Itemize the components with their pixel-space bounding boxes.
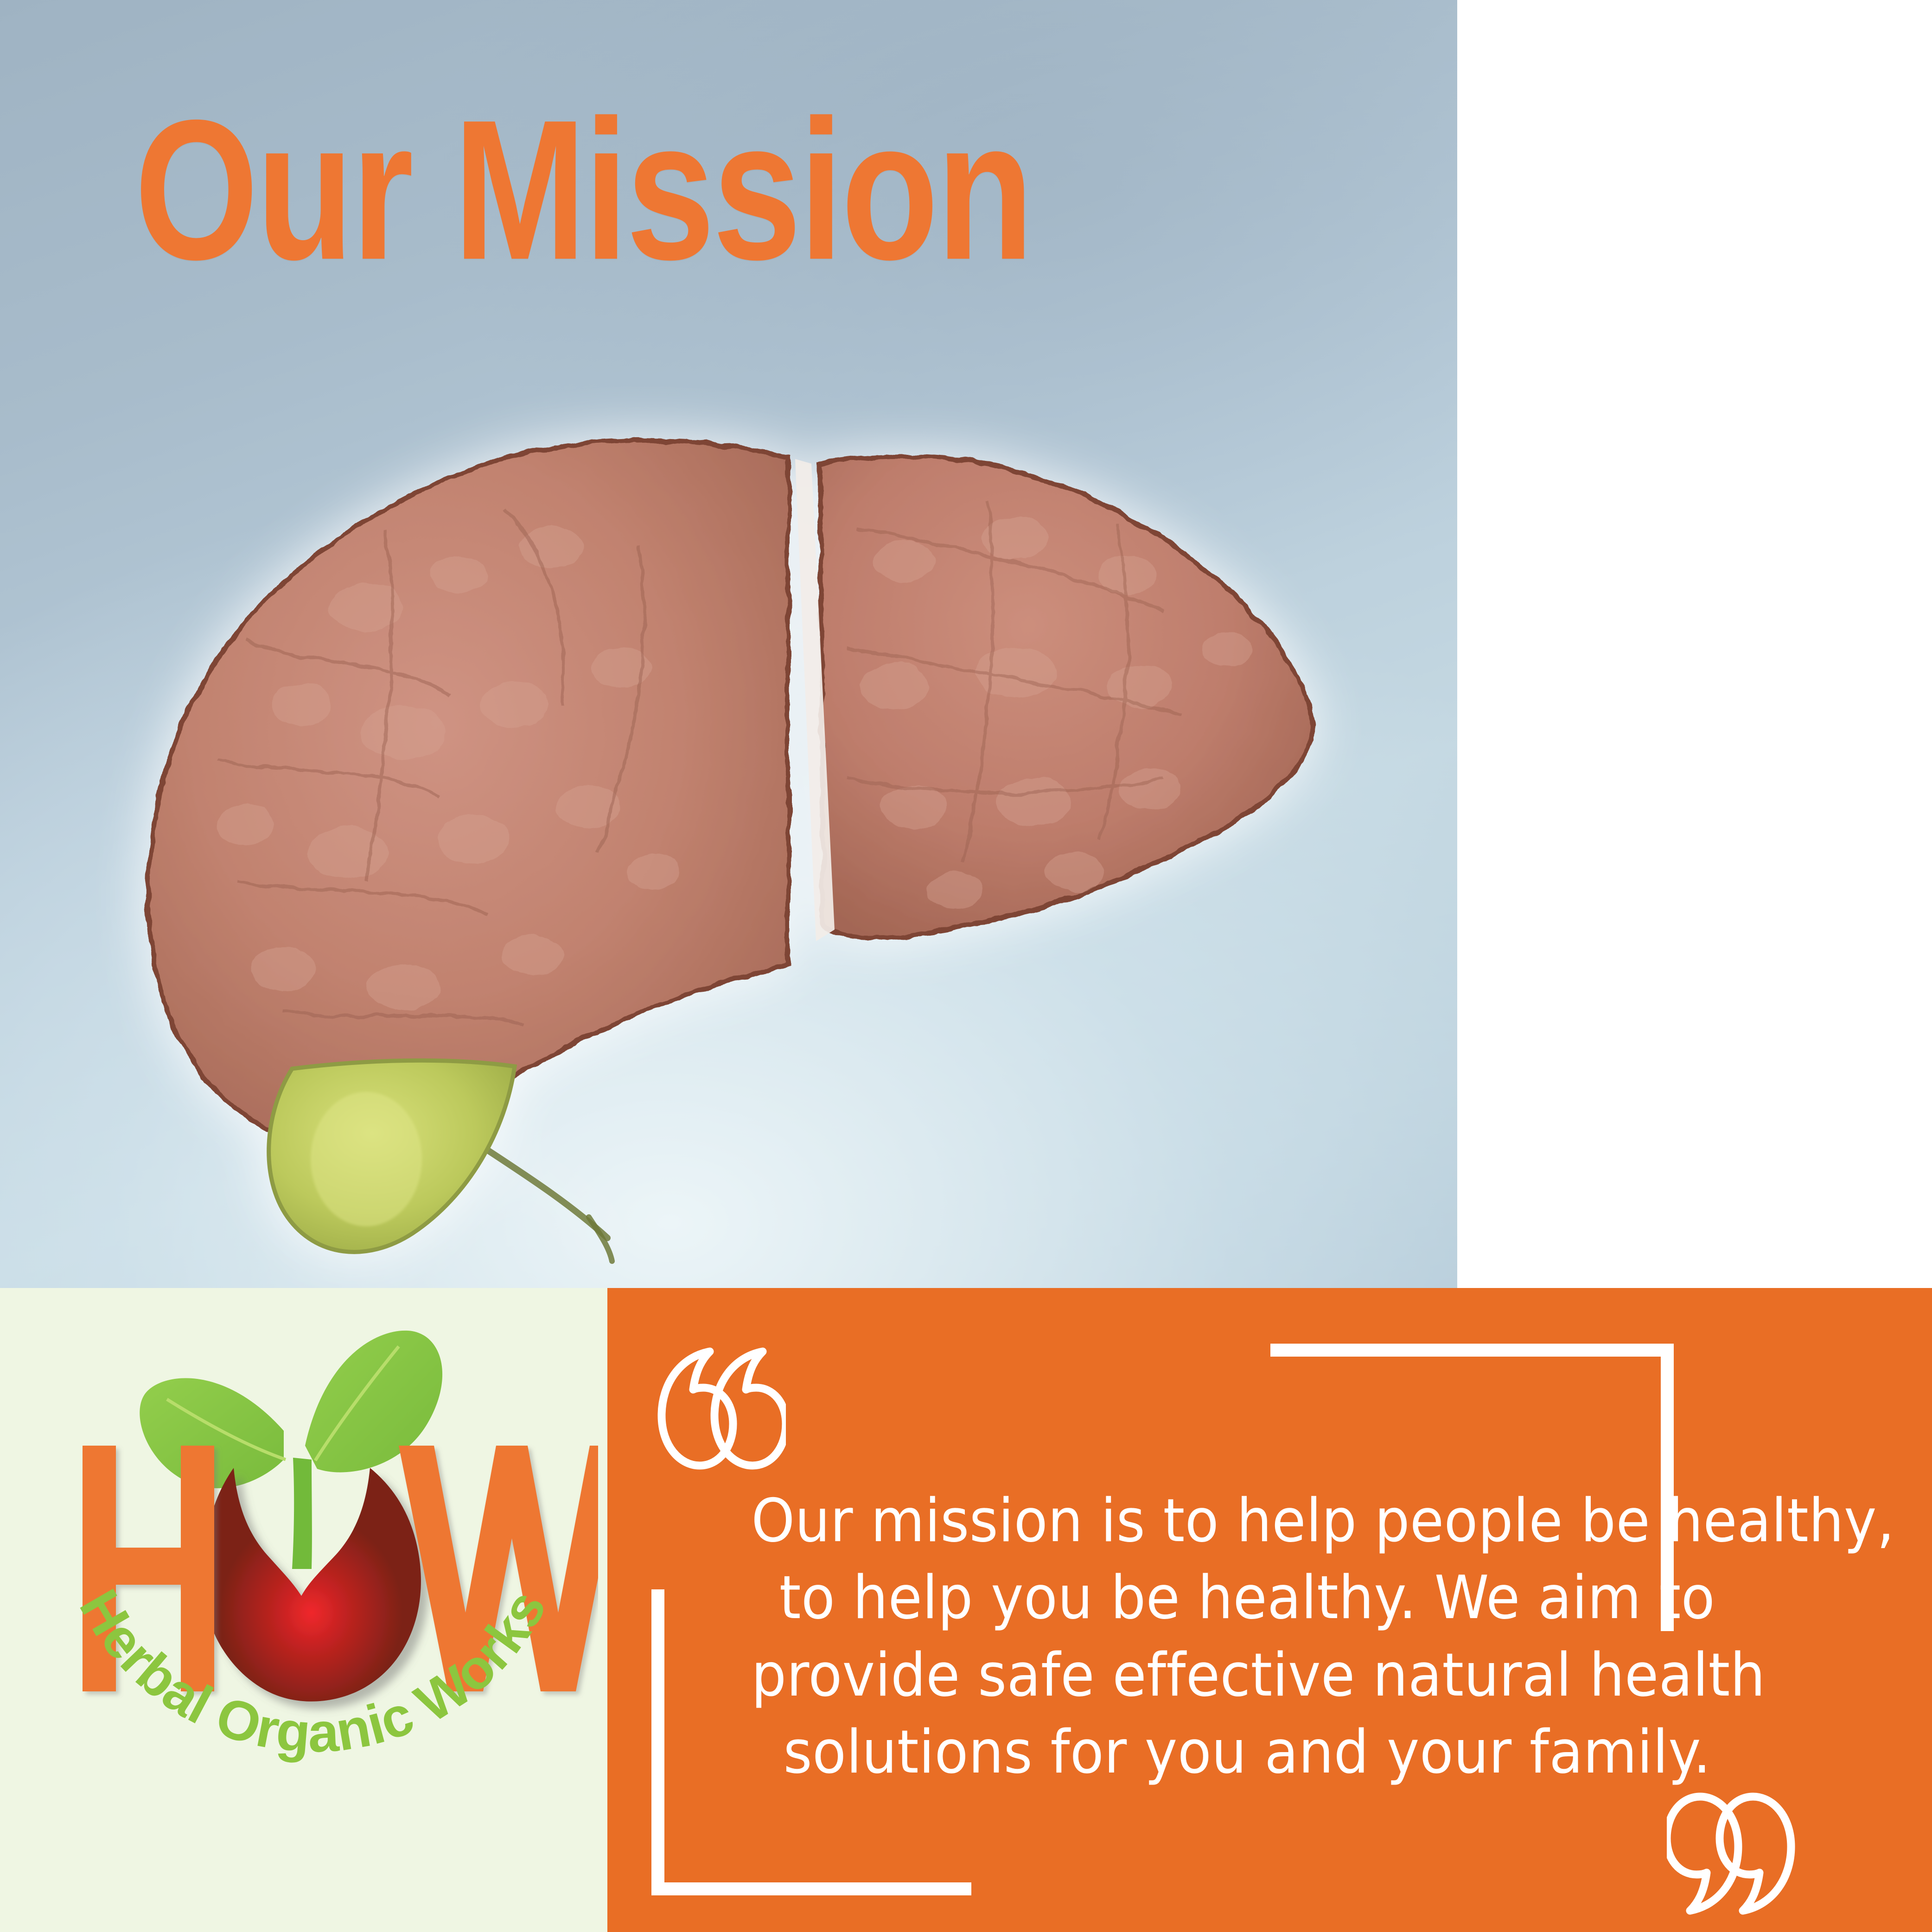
quote-line: Our mission is to help people be healthy…: [752, 1483, 1743, 1560]
liver-illustration: [107, 408, 1358, 1266]
quote-line: provide safe effective natural health: [752, 1637, 1743, 1714]
mission-statement: Our mission is to help people be healthy…: [752, 1483, 1743, 1792]
bracket-line-vertical: [651, 1589, 664, 1895]
close-quote-icon: [1667, 1786, 1801, 1921]
page-title: Our Mission: [134, 90, 1032, 290]
liver-svg: [107, 408, 1358, 1266]
quote-line: to help you be healthy. We aim to: [752, 1560, 1743, 1637]
bracket-line-horizontal: [651, 1882, 971, 1895]
open-quote-icon: [651, 1341, 786, 1476]
quote-line: solutions for you and your family.: [752, 1714, 1743, 1791]
poster-canvas: Our Mission: [0, 0, 1932, 1932]
brand-logo-panel: Herbal Organic Works: [0, 1288, 607, 1932]
mission-quote-panel: Our mission is to help people be healthy…: [607, 1288, 1932, 1932]
hero-image-panel: Our Mission: [0, 0, 1457, 1288]
bracket-line-horizontal: [1270, 1344, 1674, 1357]
brand-logo: Herbal Organic Works: [28, 1307, 598, 1919]
